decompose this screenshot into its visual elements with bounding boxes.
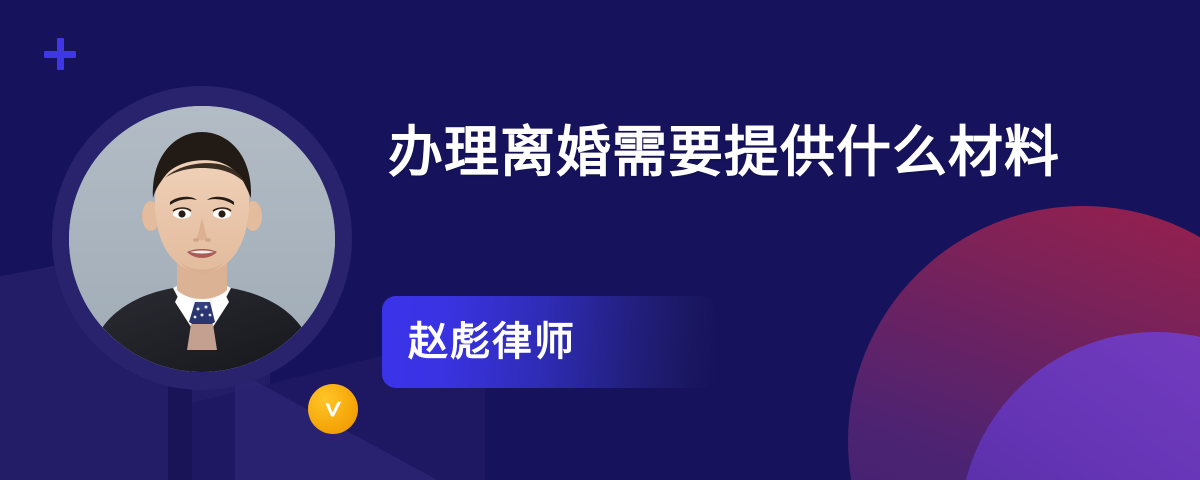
avatar-photo xyxy=(69,106,335,372)
verified-badge-icon xyxy=(308,384,358,434)
avatar xyxy=(52,86,352,390)
page-title: 办理离婚需要提供什么材料 xyxy=(388,118,1088,188)
gradient-circle-inner xyxy=(960,332,1200,480)
lawyer-banner: 办理离婚需要提供什么材料 赵彪律师 xyxy=(0,0,1200,480)
gradient-circle-outer xyxy=(848,206,1200,480)
plus-icon xyxy=(44,38,76,70)
headline-block: 办理离婚需要提供什么材料 xyxy=(388,118,1128,188)
lawyer-name-button[interactable]: 赵彪律师 xyxy=(382,296,716,388)
